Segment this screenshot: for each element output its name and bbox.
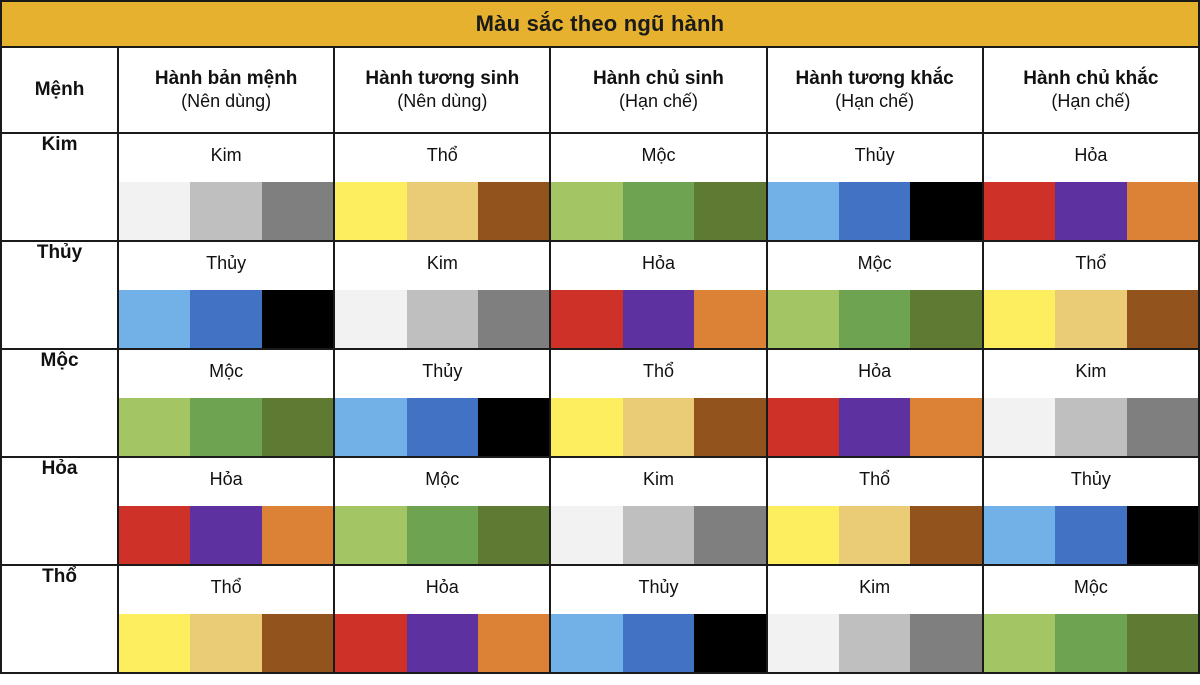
element-name-label: Hỏa (768, 350, 982, 382)
color-swatch (1127, 506, 1198, 564)
color-swatch (910, 290, 981, 348)
color-swatch (335, 398, 406, 456)
element-name-label: Mộc (119, 350, 333, 382)
table-row: MộcMộcThủyThổHỏaKim (1, 349, 1199, 457)
element-color-cell: Hỏa (767, 349, 983, 457)
color-swatch (407, 614, 478, 672)
color-swatch (335, 182, 406, 240)
color-swatch-strip (551, 506, 765, 564)
color-swatch-strip (768, 614, 982, 672)
color-swatch (551, 182, 622, 240)
color-swatch (1127, 398, 1198, 456)
color-swatch (262, 398, 333, 456)
color-swatch (839, 182, 910, 240)
element-name-label: Thủy (119, 242, 333, 274)
column-header-hanh-tuong-sinh: Hành tương sinh (Nên dùng) (334, 47, 550, 133)
color-swatch (262, 290, 333, 348)
color-swatch (694, 614, 765, 672)
color-swatch (119, 290, 190, 348)
color-swatch-strip (119, 398, 333, 456)
element-color-cell: Hỏa (550, 241, 766, 349)
color-swatch (551, 506, 622, 564)
element-color-cell: Hỏa (334, 565, 550, 673)
color-swatch (910, 506, 981, 564)
color-swatch (768, 614, 839, 672)
color-swatch (984, 182, 1055, 240)
element-color-cell: Thủy (550, 565, 766, 673)
column-header-hanh-chu-sinh-title: Hành chủ sinh (555, 67, 761, 90)
color-swatch (262, 614, 333, 672)
color-swatch (623, 182, 694, 240)
element-color-cell: Mộc (118, 349, 334, 457)
color-swatch (478, 506, 549, 564)
color-swatch (910, 398, 981, 456)
color-swatch (1055, 398, 1126, 456)
color-swatch (839, 398, 910, 456)
element-color-cell: Thổ (118, 565, 334, 673)
cell-content: Thủy (984, 458, 1198, 564)
cell-content: Thổ (984, 242, 1198, 348)
color-swatch (623, 398, 694, 456)
element-name-label: Thổ (119, 566, 333, 598)
column-header-hanh-ban-menh-title: Hành bản mệnh (123, 67, 329, 90)
element-color-cell: Mộc (550, 133, 766, 241)
element-color-cell: Kim (983, 349, 1199, 457)
row-header-menh: Thổ (1, 565, 118, 673)
column-header-menh-label: Mệnh (35, 79, 85, 100)
element-name-label: Hỏa (984, 134, 1198, 166)
color-swatch (1055, 182, 1126, 240)
color-swatch (190, 506, 261, 564)
row-header-menh: Kim (1, 133, 118, 241)
color-swatch-strip (551, 398, 765, 456)
cell-content: Kim (335, 242, 549, 348)
element-name-label: Thủy (335, 350, 549, 382)
color-swatch-strip (335, 398, 549, 456)
color-swatch (262, 506, 333, 564)
color-swatch (984, 506, 1055, 564)
color-swatch (335, 506, 406, 564)
color-swatch (551, 614, 622, 672)
cell-content: Thổ (768, 458, 982, 564)
color-swatch (478, 290, 549, 348)
cell-content: Hỏa (551, 242, 765, 348)
element-name-label: Thủy (984, 458, 1198, 490)
color-swatch-strip (768, 182, 982, 240)
color-swatch (694, 506, 765, 564)
cell-content: Thủy (551, 566, 765, 672)
color-swatch (839, 290, 910, 348)
color-swatch-strip (119, 614, 333, 672)
element-name-label: Thổ (551, 350, 765, 382)
element-color-cell: Kim (118, 133, 334, 241)
color-swatch (190, 290, 261, 348)
element-name-label: Kim (335, 242, 549, 274)
color-swatch-strip (984, 182, 1198, 240)
color-swatch (910, 182, 981, 240)
color-swatch-strip (335, 182, 549, 240)
element-name-label: Mộc (768, 242, 982, 274)
element-color-cell: Kim (334, 241, 550, 349)
table-row: HỏaHỏaMộcKimThổThủy (1, 457, 1199, 565)
element-name-label: Thủy (551, 566, 765, 598)
cell-content: Mộc (768, 242, 982, 348)
color-swatch-strip (551, 290, 765, 348)
cell-content: Mộc (335, 458, 549, 564)
cell-content: Kim (984, 350, 1198, 456)
color-swatch (478, 398, 549, 456)
table-body: Màu sắc theo ngũ hành Mệnh Hành bản mệnh… (1, 1, 1199, 673)
color-swatch (551, 290, 622, 348)
element-color-cell: Thủy (767, 133, 983, 241)
color-swatch (984, 614, 1055, 672)
color-swatch (623, 290, 694, 348)
color-swatch (768, 398, 839, 456)
color-swatch (694, 398, 765, 456)
element-name-label: Hỏa (551, 242, 765, 274)
element-color-cell: Thủy (983, 457, 1199, 565)
element-name-label: Mộc (551, 134, 765, 166)
color-swatch (1055, 506, 1126, 564)
column-header-hanh-chu-khac-title: Hành chủ khắc (988, 67, 1194, 90)
color-swatch (407, 182, 478, 240)
table-title-row: Màu sắc theo ngũ hành (1, 1, 1199, 47)
element-color-cell: Thổ (550, 349, 766, 457)
color-swatch-strip (551, 614, 765, 672)
color-swatch (407, 398, 478, 456)
element-color-cell: Hỏa (118, 457, 334, 565)
color-swatch-strip (551, 182, 765, 240)
element-name-label: Thủy (768, 134, 982, 166)
element-name-label: Kim (984, 350, 1198, 382)
element-name-label: Kim (551, 458, 765, 490)
cell-content: Thổ (119, 566, 333, 672)
color-swatch (335, 614, 406, 672)
element-name-label: Mộc (984, 566, 1198, 598)
element-color-cell: Mộc (983, 565, 1199, 673)
element-name-label: Kim (119, 134, 333, 166)
color-swatch (407, 290, 478, 348)
table-row: ThổThổHỏaThủyKimMộc (1, 565, 1199, 673)
row-header-menh: Thủy (1, 241, 118, 349)
color-swatch-strip (119, 506, 333, 564)
element-name-label: Thổ (768, 458, 982, 490)
color-swatch-strip (984, 506, 1198, 564)
color-swatch (190, 398, 261, 456)
cell-content: Hỏa (119, 458, 333, 564)
table-row: KimKimThổMộcThủyHỏa (1, 133, 1199, 241)
cell-content: Mộc (119, 350, 333, 456)
color-swatch (551, 398, 622, 456)
color-swatch-strip (335, 506, 549, 564)
column-header-hanh-tuong-sinh-title: Hành tương sinh (339, 67, 545, 90)
row-header-menh: Mộc (1, 349, 118, 457)
five-elements-color-table: Màu sắc theo ngũ hành Mệnh Hành bản mệnh… (0, 0, 1200, 685)
color-swatch (1127, 290, 1198, 348)
table-header-row: Mệnh Hành bản mệnh (Nên dùng) Hành tương… (1, 47, 1199, 133)
element-name-label: Kim (768, 566, 982, 598)
color-swatch-strip (984, 398, 1198, 456)
column-header-hanh-chu-khac-note: (Hạn chế) (988, 91, 1194, 113)
element-color-cell: Mộc (767, 241, 983, 349)
color-swatch (119, 398, 190, 456)
color-swatch (478, 182, 549, 240)
color-swatch (119, 506, 190, 564)
color-swatch-strip (335, 614, 549, 672)
column-header-hanh-chu-khac: Hành chủ khắc (Hạn chế) (983, 47, 1199, 133)
element-name-label: Thổ (984, 242, 1198, 274)
color-swatch (1055, 290, 1126, 348)
cell-content: Hỏa (984, 134, 1198, 240)
color-swatch (262, 182, 333, 240)
color-swatch (119, 614, 190, 672)
color-swatch (478, 614, 549, 672)
column-header-menh: Mệnh (1, 47, 118, 133)
color-swatch-strip (768, 506, 982, 564)
element-color-cell: Thủy (334, 349, 550, 457)
color-swatch-strip (335, 290, 549, 348)
cell-content: Hỏa (335, 566, 549, 672)
color-swatch-strip (768, 398, 982, 456)
color-swatch (190, 614, 261, 672)
color-swatch-strip (119, 182, 333, 240)
color-swatch-strip (768, 290, 982, 348)
column-header-hanh-tuong-sinh-note: (Nên dùng) (339, 91, 545, 113)
color-swatch (768, 506, 839, 564)
element-color-cell: Thổ (983, 241, 1199, 349)
color-swatch (335, 290, 406, 348)
cell-content: Thủy (119, 242, 333, 348)
column-header-hanh-chu-sinh: Hành chủ sinh (Hạn chế) (550, 47, 766, 133)
cell-content: Mộc (551, 134, 765, 240)
color-swatch (623, 506, 694, 564)
color-swatch (694, 290, 765, 348)
color-swatch-strip (119, 290, 333, 348)
color-swatch (694, 182, 765, 240)
column-header-hanh-chu-sinh-note: (Hạn chế) (555, 91, 761, 113)
column-header-hanh-ban-menh-note: (Nên dùng) (123, 91, 329, 113)
element-color-cell: Kim (550, 457, 766, 565)
color-swatch (984, 290, 1055, 348)
element-name-label: Thổ (335, 134, 549, 166)
cell-content: Thổ (551, 350, 765, 456)
color-swatch (190, 182, 261, 240)
cell-content: Kim (551, 458, 765, 564)
cell-content: Thủy (335, 350, 549, 456)
color-swatch (839, 614, 910, 672)
color-swatch (839, 506, 910, 564)
column-header-hanh-tuong-khac-title: Hành tương khắc (772, 67, 978, 90)
page-title: Màu sắc theo ngũ hành (1, 1, 1199, 47)
color-swatch (910, 614, 981, 672)
color-swatch (407, 506, 478, 564)
element-color-cell: Thổ (334, 133, 550, 241)
cell-content: Kim (768, 566, 982, 672)
element-color-cell: Thổ (767, 457, 983, 565)
column-header-hanh-ban-menh: Hành bản mệnh (Nên dùng) (118, 47, 334, 133)
color-swatch (984, 398, 1055, 456)
column-header-hanh-tuong-khac-note: (Hạn chế) (772, 91, 978, 113)
cell-content: Thổ (335, 134, 549, 240)
color-swatch (119, 182, 190, 240)
element-color-cell: Mộc (334, 457, 550, 565)
color-swatch (1127, 614, 1198, 672)
color-swatch (623, 614, 694, 672)
element-name-label: Hỏa (335, 566, 549, 598)
table-row: ThủyThủyKimHỏaMộcThổ (1, 241, 1199, 349)
cell-content: Kim (119, 134, 333, 240)
cell-content: Mộc (984, 566, 1198, 672)
color-swatch-strip (984, 290, 1198, 348)
element-color-cell: Kim (767, 565, 983, 673)
color-swatch-strip (984, 614, 1198, 672)
color-swatch (1127, 182, 1198, 240)
element-name-label: Hỏa (119, 458, 333, 490)
color-swatch (768, 182, 839, 240)
color-by-five-elements-table: Màu sắc theo ngũ hành Mệnh Hành bản mệnh… (0, 0, 1200, 674)
color-swatch (768, 290, 839, 348)
color-swatch (1055, 614, 1126, 672)
row-header-menh: Hỏa (1, 457, 118, 565)
cell-content: Thủy (768, 134, 982, 240)
cell-content: Hỏa (768, 350, 982, 456)
element-name-label: Mộc (335, 458, 549, 490)
element-color-cell: Thủy (118, 241, 334, 349)
column-header-hanh-tuong-khac: Hành tương khắc (Hạn chế) (767, 47, 983, 133)
element-color-cell: Hỏa (983, 133, 1199, 241)
